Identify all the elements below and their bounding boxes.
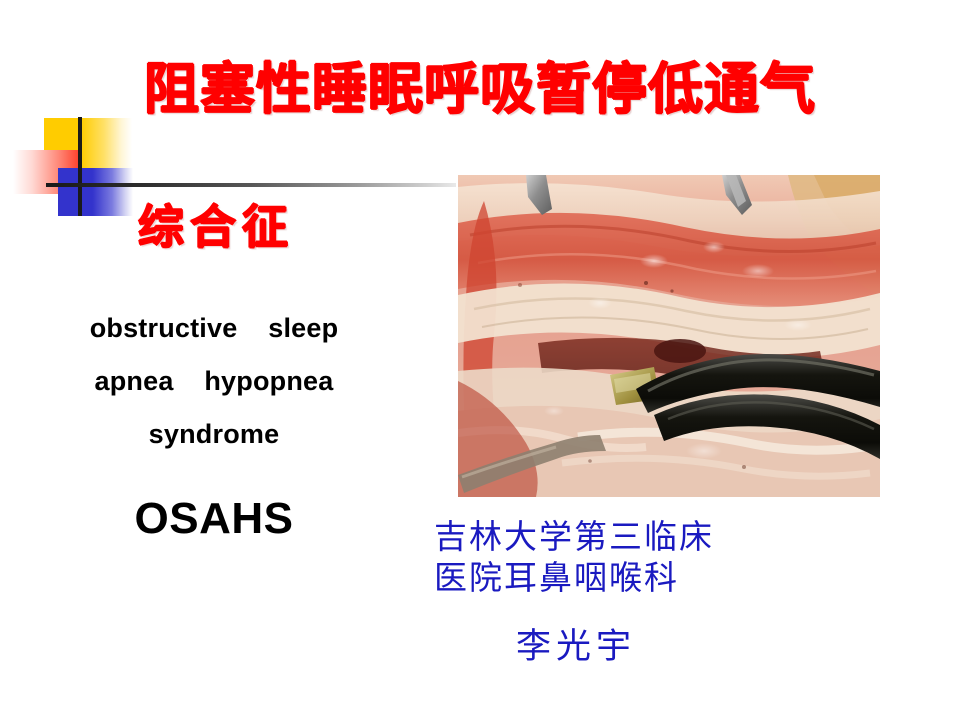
surgical-photograph-content	[458, 175, 880, 497]
slide-title-chinese: 阻塞性睡眠呼吸暂停低通气	[0, 62, 960, 117]
decor-yellow-square	[44, 118, 132, 192]
english-line-3: syndrome	[34, 408, 394, 461]
author-name: 李光宇	[516, 630, 636, 665]
decor-red-square	[13, 150, 81, 194]
affiliation-line-2: 医院耳鼻咽喉科	[434, 557, 714, 598]
decor-horizontal-rule	[46, 183, 456, 187]
slide-subtitle-chinese: 综合征	[138, 204, 294, 250]
affiliation-block: 吉林大学第三临床 医院耳鼻咽喉科	[434, 516, 714, 598]
english-term-block: obstructive sleep apnea hypopnea syndrom…	[34, 302, 394, 461]
surgical-photograph	[458, 175, 880, 497]
presentation-slide: 阻塞性睡眠呼吸暂停低通气 综合征 obstructive sleep apnea…	[0, 0, 960, 720]
acronym-label: OSAHS	[34, 497, 394, 541]
decor-blue-square	[58, 168, 133, 216]
english-line-1: obstructive sleep	[34, 302, 394, 355]
affiliation-line-1: 吉林大学第三临床	[434, 516, 714, 557]
decor-vertical-rule	[78, 117, 82, 216]
english-line-2: apnea hypopnea	[34, 355, 394, 408]
